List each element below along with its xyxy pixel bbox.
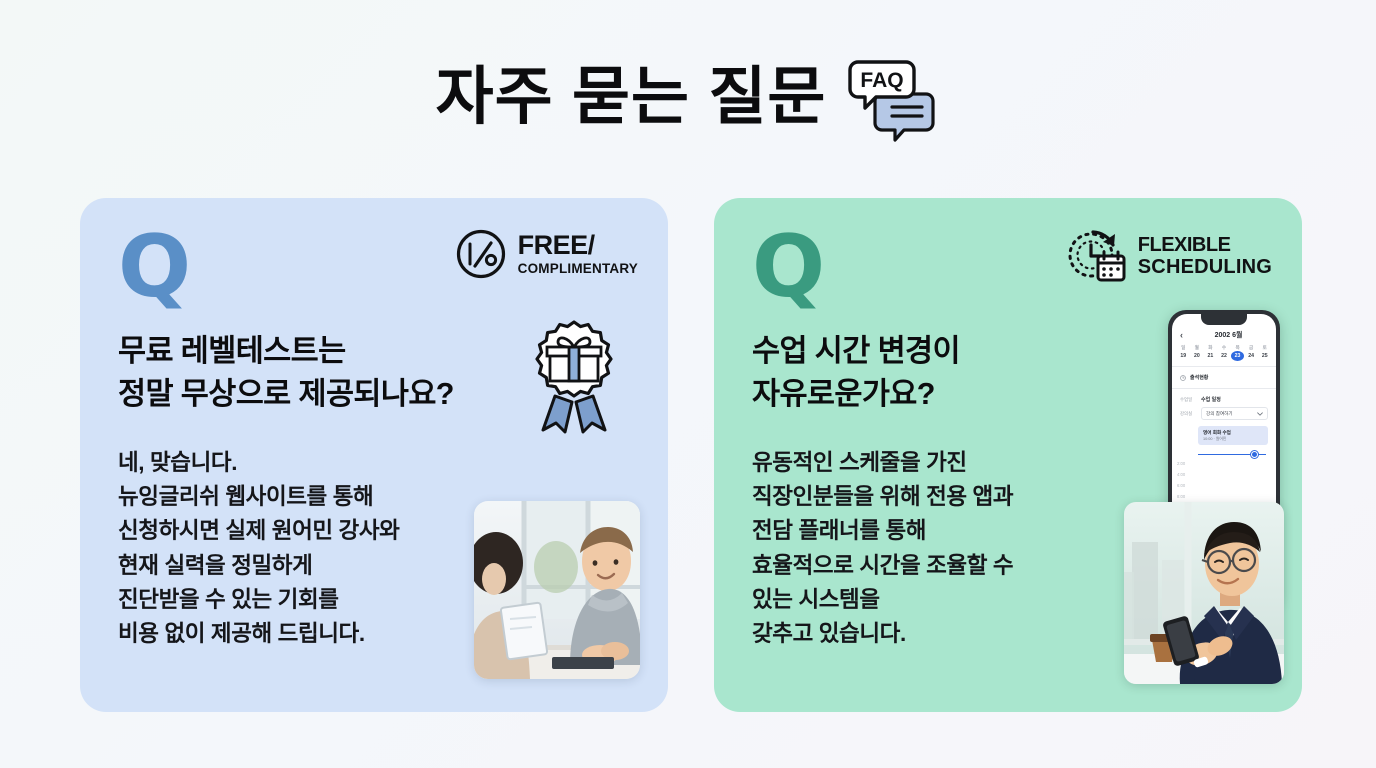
time-label: 2:00 — [1177, 461, 1276, 466]
calendar-month-label: 2002 6월 — [1189, 330, 1268, 340]
lesson-event-card[interactable]: 영어 회화 수업 10:00 · 원어민 — [1198, 426, 1268, 445]
calendar-date[interactable]: 20 — [1191, 351, 1204, 361]
calendar-date[interactable]: 24 — [1245, 351, 1258, 361]
faq-card-free-level-test[interactable]: Q FREE/ COMPLIMENTARY 무료 레벨테스트는 정말 무상으로 … — [80, 198, 668, 712]
time-axis-labels: 2:00 4:00 6:00 8:00 — [1172, 461, 1276, 499]
badge-flexible-scheduling: FLEXIBLE SCHEDULING — [1065, 228, 1272, 284]
time-label: 6:00 — [1177, 483, 1276, 488]
calendar-date[interactable]: 19 — [1177, 351, 1190, 361]
calendar-date-selected[interactable]: 23 — [1231, 351, 1244, 361]
lesson-subtitle: 10:00 · 원어민 — [1203, 437, 1263, 442]
chevron-down-icon — [1257, 412, 1263, 416]
question-mark-letter: Q — [118, 224, 191, 310]
faq-question-text: 수업 시간 변경이 자유로운가요? — [752, 330, 1182, 417]
time-slider[interactable] — [1198, 450, 1266, 458]
row-value: 수업 일정 — [1201, 396, 1221, 403]
calendar-date[interactable]: 25 — [1258, 351, 1271, 361]
badge-free-complimentary: FREE/ COMPLIMENTARY — [455, 228, 638, 280]
select-value: 강의 참여하기 — [1206, 411, 1233, 417]
time-label: 4:00 — [1177, 472, 1276, 477]
page-header: 자주 묻는 질문 FAQ — [0, 52, 1376, 142]
classroom-select[interactable]: 강의 참여하기 — [1201, 407, 1268, 420]
lesson-date-row: 수업일 수업 일정 — [1172, 394, 1276, 405]
zero-percent-circle-icon — [455, 228, 507, 280]
badge-secondary-label: SCHEDULING — [1138, 257, 1272, 277]
time-label: 8:00 — [1177, 494, 1276, 499]
calendar-date-row: 19 20 21 22 23 24 25 — [1172, 351, 1276, 361]
attendance-row: 출석현황 — [1172, 372, 1276, 383]
lesson-title: 영어 회화 수업 — [1203, 430, 1263, 436]
faq-card-flexible-scheduling[interactable]: Q — [714, 198, 1302, 712]
faq-speech-bubble-icon: FAQ — [844, 58, 940, 142]
badge-primary-label: FREE/ — [518, 232, 638, 259]
gift-rosette-badge-icon — [522, 318, 626, 440]
row-label: 수업일 — [1180, 397, 1197, 403]
calendar-date[interactable]: 21 — [1204, 351, 1217, 361]
faq-answer-text: 유동적인 스케줄을 가진 직장인분들을 위해 전용 앱과 전담 플래너를 통해 … — [752, 446, 1112, 651]
badge-secondary-label: COMPLIMENTARY — [518, 262, 638, 276]
slider-handle[interactable] — [1251, 451, 1258, 458]
phone-notch — [1201, 314, 1247, 325]
faq-icon-label: FAQ — [861, 69, 904, 92]
businessman-phone-photo — [1124, 502, 1284, 684]
divider — [1172, 388, 1276, 389]
question-mark-letter: Q — [752, 224, 825, 310]
back-chevron-icon[interactable]: ‹ — [1180, 330, 1183, 340]
attendance-label: 출석현황 — [1190, 374, 1208, 381]
faq-question-text: 무료 레벨테스트는 정말 무상으로 제공되나요? — [118, 330, 548, 417]
badge-primary-label: FLEXIBLE — [1138, 235, 1272, 255]
faq-answer-text: 네, 맞습니다. 뉴잉글리쉬 웹사이트를 통해 신청하시면 실제 원어민 강사와… — [118, 446, 518, 651]
calendar-date[interactable]: 22 — [1218, 351, 1231, 361]
divider — [1172, 366, 1276, 367]
page-title: 자주 묻는 질문 — [436, 66, 827, 129]
clock-calendar-icon — [1065, 228, 1127, 284]
classroom-select-row[interactable]: 강의실 강의 참여하기 — [1172, 405, 1276, 422]
row-label: 강의실 — [1180, 411, 1197, 417]
clock-small-icon — [1180, 375, 1186, 381]
faq-card-list: Q FREE/ COMPLIMENTARY 무료 레벨테스트는 정말 무상으로 … — [80, 198, 1302, 712]
